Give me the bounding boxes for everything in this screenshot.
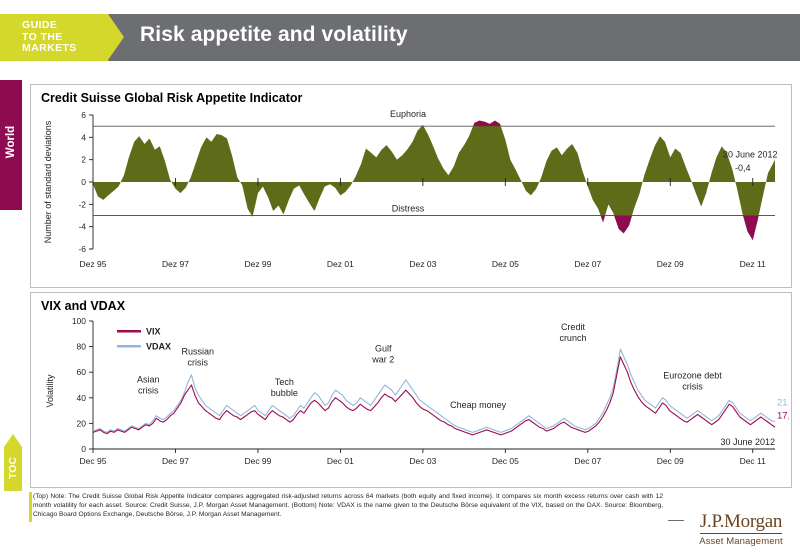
svg-text:Dec 03: Dec 03 <box>409 456 436 466</box>
svg-text:Tech: Tech <box>275 377 294 387</box>
risk-appetite-title: Credit Suisse Global Risk Appetite Indic… <box>41 91 302 105</box>
svg-text:Dez 09: Dez 09 <box>657 259 684 269</box>
footnote-accent-bar <box>29 492 32 522</box>
svg-text:2: 2 <box>81 155 86 165</box>
svg-text:Dez 95: Dez 95 <box>80 259 107 269</box>
jpmorgan-logo: J.P.Morgan Asset Management <box>688 512 794 547</box>
svg-text:-2: -2 <box>78 199 86 209</box>
vix-vdax-panel: VIX and VDAX 020406080100VolatilityDec 9… <box>30 292 792 488</box>
svg-text:VIX: VIX <box>146 327 161 337</box>
svg-text:Credit: Credit <box>561 322 586 332</box>
svg-text:Dez 05: Dez 05 <box>492 259 519 269</box>
svg-text:-6: -6 <box>78 244 86 254</box>
svg-text:Dez 99: Dez 99 <box>244 259 271 269</box>
svg-text:0: 0 <box>81 444 86 454</box>
svg-text:4: 4 <box>81 132 86 142</box>
page-header: GUIDE TO THE MARKETS Risk appetite and v… <box>0 14 800 61</box>
svg-text:crisis: crisis <box>138 385 159 395</box>
svg-text:100: 100 <box>72 316 86 326</box>
svg-text:crisis: crisis <box>682 382 703 392</box>
svg-text:Dez 01: Dez 01 <box>327 259 354 269</box>
svg-text:21,5: 21,5 <box>777 397 789 408</box>
sidebar-tab-world-label: World <box>5 110 17 174</box>
svg-text:40: 40 <box>77 393 87 403</box>
svg-text:Dez 97: Dez 97 <box>162 259 189 269</box>
svg-text:Dec 97: Dec 97 <box>162 456 189 466</box>
svg-text:Dec 95: Dec 95 <box>80 456 107 466</box>
toc-up-arrow-icon[interactable] <box>4 434 22 447</box>
svg-text:Dez 03: Dez 03 <box>409 259 436 269</box>
svg-text:-0,4: -0,4 <box>735 163 751 173</box>
guide-to-the-markets-label: GUIDE TO THE MARKETS <box>22 20 77 55</box>
header-yellow-arrow <box>108 14 124 60</box>
svg-text:Euphoria: Euphoria <box>390 109 426 119</box>
svg-text:crisis: crisis <box>187 357 208 367</box>
svg-text:Number of standard deviations: Number of standard deviations <box>43 120 53 243</box>
jpmorgan-wordmark: J.P.Morgan <box>700 512 782 534</box>
svg-text:Dec 11: Dec 11 <box>740 456 767 466</box>
svg-text:6: 6 <box>81 110 86 120</box>
risk-appetite-chart: -6-4-20246Number of standard deviationsD… <box>31 109 789 285</box>
svg-text:Dec 09: Dec 09 <box>657 456 684 466</box>
sidebar-tab-world[interactable]: World <box>0 80 22 210</box>
svg-text:war 2: war 2 <box>371 355 394 365</box>
risk-appetite-panel: Credit Suisse Global Risk Appetite Indic… <box>30 84 792 288</box>
vix-vdax-chart: 020406080100VolatilityDec 95Dec 97Dec 99… <box>31 315 789 483</box>
svg-text:crunch: crunch <box>559 333 586 343</box>
svg-text:0: 0 <box>81 177 86 187</box>
svg-text:Eurozone debt: Eurozone debt <box>663 371 722 381</box>
svg-text:Gulf: Gulf <box>375 344 392 354</box>
svg-text:Cheap money: Cheap money <box>450 400 507 410</box>
svg-text:bubble: bubble <box>271 388 298 398</box>
svg-text:Distress: Distress <box>392 204 425 214</box>
svg-text:Dec 05: Dec 05 <box>492 456 519 466</box>
page-title: Risk appetite and volatility <box>140 23 408 47</box>
svg-text:17,1: 17,1 <box>777 410 789 421</box>
svg-text:VDAX: VDAX <box>146 342 171 352</box>
svg-text:30 June 2012: 30 June 2012 <box>720 437 775 447</box>
svg-text:Dez 11: Dez 11 <box>740 259 767 269</box>
vix-vdax-title: VIX and VDAX <box>41 299 125 313</box>
svg-text:20: 20 <box>77 418 87 428</box>
svg-text:60: 60 <box>77 367 87 377</box>
jpmorgan-tagline: Asset Management <box>688 536 794 547</box>
sidebar-tab-toc-label: TOC <box>7 450 19 486</box>
svg-text:-4: -4 <box>78 222 86 232</box>
sidebar-tab-toc[interactable]: TOC <box>4 447 22 491</box>
svg-text:Russian: Russian <box>181 346 214 356</box>
svg-text:Volatility: Volatility <box>45 374 55 408</box>
svg-text:80: 80 <box>77 342 87 352</box>
svg-text:Dez 07: Dez 07 <box>574 259 601 269</box>
svg-text:Dec 07: Dec 07 <box>574 456 601 466</box>
footnote-text: (Top) Note: The Credit Suisse Global Ris… <box>33 492 663 520</box>
svg-text:30 June 2012: 30 June 2012 <box>723 149 778 159</box>
svg-text:Dec 99: Dec 99 <box>244 456 271 466</box>
footnote-rule <box>668 520 684 521</box>
svg-text:Dec 01: Dec 01 <box>327 456 354 466</box>
svg-text:Asian: Asian <box>137 374 160 384</box>
